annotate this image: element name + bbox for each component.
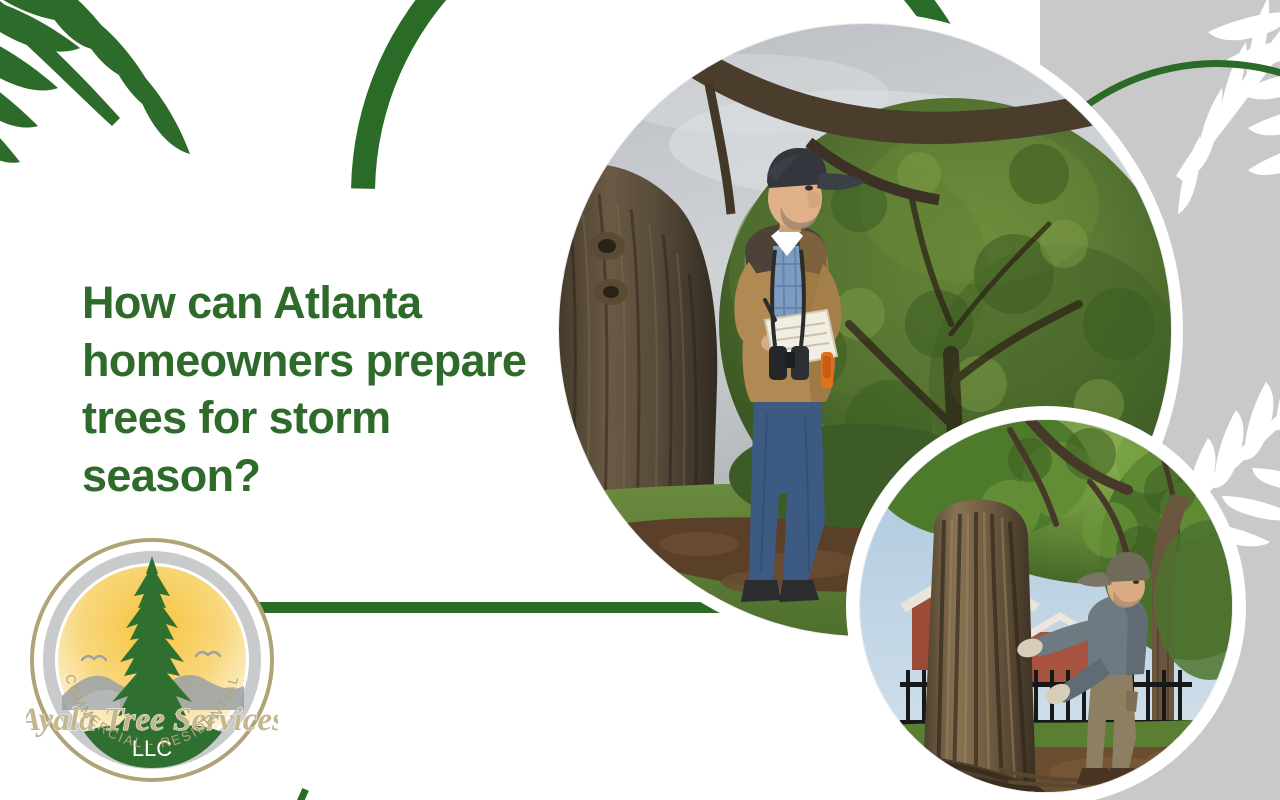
photo-frame-secondary (846, 406, 1246, 800)
palm-frond-green-icon (0, 0, 204, 176)
photo-arborist-examining-trunk (860, 420, 1232, 792)
ayala-tree-services-logo-icon: Ayala Tree Services LLC COMMERCIAL - RES… (26, 534, 278, 786)
poster-canvas: How can Atlanta homeowners prepare trees… (0, 0, 1280, 800)
horizontal-bar-green (236, 602, 741, 613)
page-title: How can Atlanta homeowners prepare trees… (82, 274, 532, 504)
logo-company-name: Ayala Tree Services (26, 702, 278, 738)
logo[interactable]: Ayala Tree Services LLC COMMERCIAL - RES… (26, 534, 278, 786)
